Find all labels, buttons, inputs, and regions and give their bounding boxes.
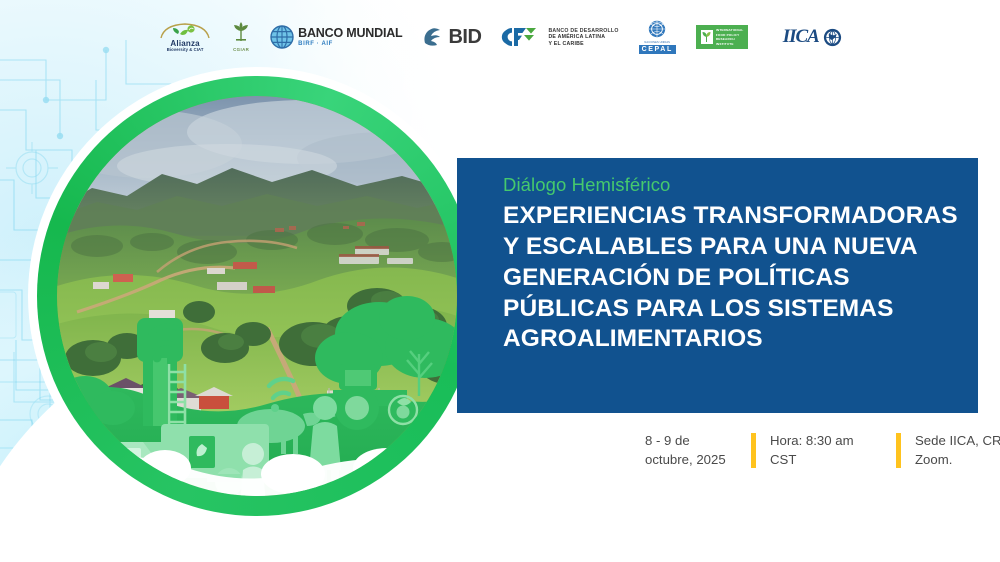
logo-iica-name: IICA (783, 26, 819, 48)
info-time: Hora: 8:30 am CST (770, 432, 882, 469)
cgiar-plant-icon (232, 22, 250, 42)
logo-bid: BID (422, 26, 481, 49)
iica-globe-icon (823, 28, 842, 47)
partner-logo-strip: Alianza Bioversity & CIAT CGIAR (0, 14, 1000, 60)
logo-alianza-sub: Bioversity & CIAT (167, 48, 204, 52)
logo-cgiar: CGIAR (232, 22, 250, 52)
info-divider-2 (896, 433, 901, 468)
logo-ifpri-l4: INSTITUTE (716, 42, 744, 46)
hero-blue-panel: Diálogo Hemisférico EXPERIENCIAS TRANSFO… (457, 158, 978, 413)
world-bank-globe-icon (270, 25, 294, 49)
hero-photo-circle (37, 76, 477, 516)
agriculture-illustration-overlay (57, 96, 457, 496)
ifpri-leaf-icon (701, 30, 713, 44)
logo-cgiar-name: CGIAR (233, 47, 249, 52)
bid-mark-icon (422, 26, 444, 48)
logo-ifpri-l2: FOOD POLICY (716, 33, 744, 37)
logo-iica: IICA (783, 26, 842, 48)
logo-ifpri-l1: INTERNATIONAL (716, 28, 744, 32)
logo-bid-name: BID (448, 26, 481, 49)
info-date-text: 8 - 9 de octubre, 2025 (645, 432, 726, 469)
caf-mark-icon (501, 26, 541, 48)
logo-cepal-name: CEPAL (639, 45, 676, 54)
event-headline: EXPERIENCIAS TRANSFORMADORAS Y ESCALABLE… (503, 201, 968, 355)
info-location: Sede IICA, CR. Zoom. (915, 432, 1000, 469)
headline-line-4: PÚBLICAS PARA LOS SISTEMAS (503, 294, 968, 325)
logo-alianza-bioversity-ciat: Alianza Bioversity & CIAT (158, 22, 212, 52)
logo-ifpri-abbrev: IFPRI (752, 49, 762, 54)
headline-line-2: Y ESCALABLES PARA UNA NUEVA (503, 232, 968, 263)
logo-caf-line3: Y EL CARIBE (548, 41, 618, 47)
alianza-mark-icon (158, 22, 212, 40)
logo-ifpri: INTERNATIONAL FOOD POLICY RESEARCH INSTI… (696, 25, 749, 48)
headline-line-5: AGROALIMENTARIOS (503, 324, 968, 355)
logo-banco-mundial-name: BANCO MUNDIAL (298, 27, 402, 40)
info-time-text: Hora: 8:30 am CST (770, 432, 854, 469)
event-kicker: Diálogo Hemisférico (503, 174, 968, 196)
logo-caf: BANCO DE DESARROLLO DE AMÉRICA LATINA Y … (501, 26, 618, 48)
headline-line-1: EXPERIENCIAS TRANSFORMADORAS (503, 201, 968, 232)
poster-canvas: Alianza Bioversity & CIAT CGIAR (0, 0, 1000, 562)
logo-ifpri-l3: RESEARCH (716, 37, 744, 41)
united-nations-emblem-icon (646, 20, 668, 40)
headline-line-3: GENERACIÓN DE POLÍTICAS (503, 263, 968, 294)
info-divider-1 (751, 433, 756, 468)
logo-banco-mundial: BANCO MUNDIAL BIRF · AIF (270, 25, 402, 49)
info-date: 8 - 9 de octubre, 2025 (645, 432, 737, 469)
logo-cepal-un-sub: NACIONES UNIDAS (644, 41, 670, 44)
tractor-illustration (333, 364, 417, 430)
logo-caf-line2: DE AMÉRICA LATINA (548, 34, 618, 40)
info-location-text: Sede IICA, CR. Zoom. (915, 432, 1000, 469)
logo-caf-line1: BANCO DE DESARROLLO (548, 28, 618, 34)
logo-banco-mundial-sub: BIRF · AIF (298, 41, 402, 47)
logo-cepal: NACIONES UNIDAS CEPAL (639, 20, 676, 54)
event-info-bar: 8 - 9 de octubre, 2025 Hora: 8:30 am CST… (645, 432, 1000, 469)
